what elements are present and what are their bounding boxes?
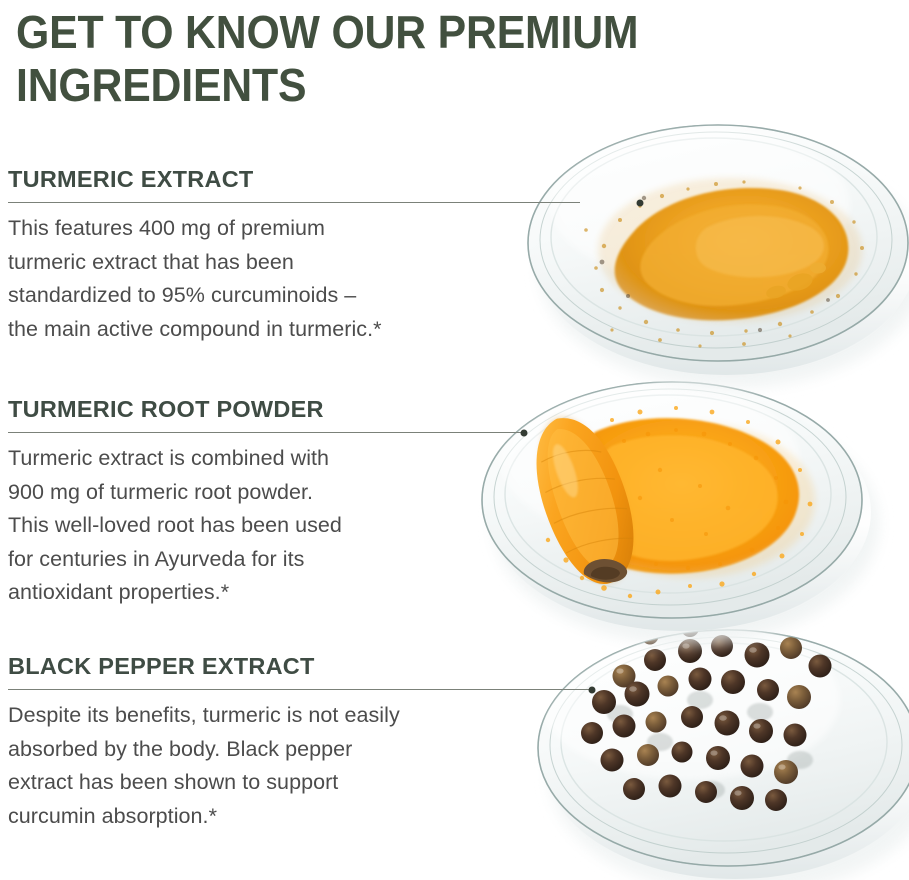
section-black-pepper-extract: BLACK PEPPER EXTRACT Despite its benefit… bbox=[8, 653, 588, 833]
body-line: the main active compound in turmeric.* bbox=[8, 313, 588, 347]
ingredients-infographic: GET TO KNOW OUR PREMIUMINGREDIENTS TURME… bbox=[0, 0, 909, 880]
section-body-turmeric-root-powder: Turmeric extract is combined with 900 mg… bbox=[8, 442, 588, 610]
section-turmeric-root-powder: TURMERIC ROOT POWDER Turmeric extract is… bbox=[8, 396, 588, 610]
section-title-turmeric-extract: TURMERIC EXTRACT bbox=[8, 166, 588, 193]
connector-dot-black-pepper-extract bbox=[589, 686, 596, 693]
body-line: antioxidant properties.* bbox=[8, 576, 588, 610]
body-line: standardized to 95% curcuminoids – bbox=[8, 279, 588, 313]
connector-dot-turmeric-extract bbox=[637, 199, 644, 206]
section-divider-turmeric-extract bbox=[8, 202, 580, 203]
page-title: GET TO KNOW OUR PREMIUMINGREDIENTS bbox=[16, 6, 816, 112]
body-line: Turmeric extract is combined with bbox=[8, 442, 588, 476]
section-divider-turmeric-root-powder bbox=[8, 432, 526, 433]
body-line: for centuries in Ayurveda for its bbox=[8, 543, 588, 577]
section-body-turmeric-extract: This features 400 mg of premium turmeric… bbox=[8, 212, 588, 346]
section-turmeric-extract: TURMERIC EXTRACT This features 400 mg of… bbox=[8, 166, 588, 346]
body-line: turmeric extract that has been bbox=[8, 246, 588, 280]
body-line: absorbed by the body. Black pepper bbox=[8, 733, 588, 767]
content-column: GET TO KNOW OUR PREMIUMINGREDIENTS TURME… bbox=[0, 0, 909, 880]
body-line: This well-loved root has been used bbox=[8, 509, 588, 543]
body-line: This features 400 mg of premium bbox=[8, 212, 588, 246]
section-divider-black-pepper-extract bbox=[8, 689, 594, 690]
section-title-black-pepper-extract: BLACK PEPPER EXTRACT bbox=[8, 653, 588, 680]
connector-dot-turmeric-root-powder bbox=[521, 429, 528, 436]
body-line: extract has been shown to support bbox=[8, 766, 588, 800]
page-title-line-2: INGREDIENTS bbox=[16, 59, 306, 111]
body-line: 900 mg of turmeric root powder. bbox=[8, 476, 588, 510]
body-line: Despite its benefits, turmeric is not ea… bbox=[8, 699, 588, 733]
page-title-line-1: GET TO KNOW OUR PREMIUM bbox=[16, 6, 638, 58]
section-body-black-pepper-extract: Despite its benefits, turmeric is not ea… bbox=[8, 699, 588, 833]
body-line: curcumin absorption.* bbox=[8, 800, 588, 834]
section-title-turmeric-root-powder: TURMERIC ROOT POWDER bbox=[8, 396, 588, 423]
